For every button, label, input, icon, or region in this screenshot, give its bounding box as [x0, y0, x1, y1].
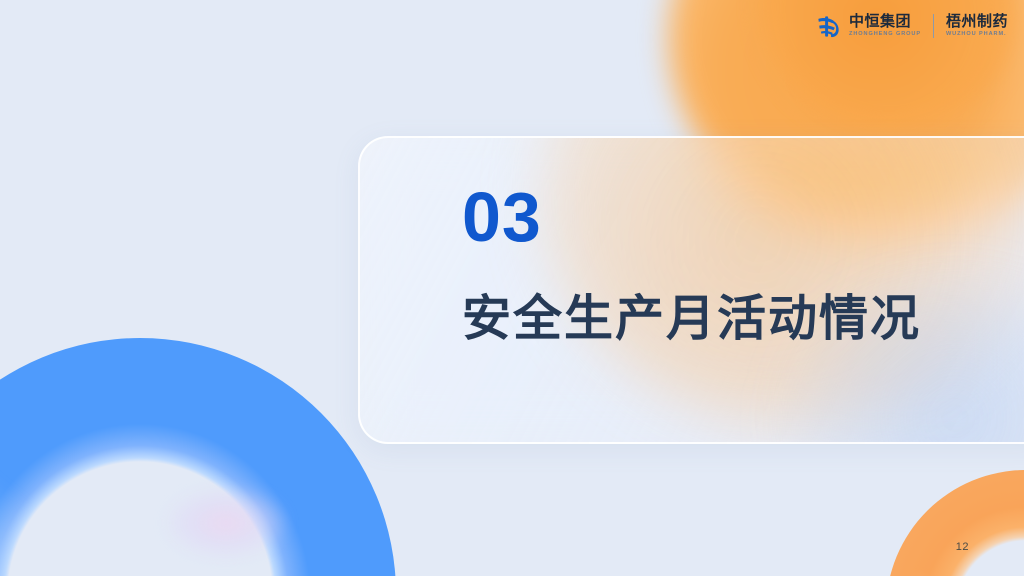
logo-right-cn: 梧州制药 — [946, 14, 1008, 30]
page-number: 12 — [956, 541, 969, 553]
logo-right-en: WUZHOU PHARM. — [946, 30, 1008, 38]
logo-left-text: 中恒集团 ZHONGHENG GROUP — [849, 14, 921, 38]
logo-divider — [933, 14, 934, 38]
card-content: 03 安全生产月活动情况 — [360, 138, 1024, 347]
section-number: 03 — [462, 182, 1024, 252]
logo-left-cn: 中恒集团 — [849, 14, 921, 30]
orange-ring-body — [886, 470, 1024, 576]
orange-ring-highlight — [900, 484, 1024, 576]
blue-ring-sparkle — [166, 488, 286, 558]
company-logo: 中恒集团 ZHONGHENG GROUP 梧州制药 WUZHOU PHARM. — [815, 11, 1008, 41]
orange-ring-decoration — [886, 470, 1024, 576]
logo-right-text: 梧州制药 WUZHOU PHARM. — [946, 14, 1008, 38]
blue-ring-highlight — [0, 360, 374, 576]
zhongheng-logo-mark-icon — [815, 13, 842, 40]
presentation-slide: 03 安全生产月活动情况 中恒集团 ZHONGHENG GROUP 梧州制药 W… — [0, 0, 1024, 576]
page-title: 安全生产月活动情况 — [462, 292, 1024, 347]
section-divider-card: 03 安全生产月活动情况 — [358, 136, 1024, 444]
logo-left-en: ZHONGHENG GROUP — [849, 30, 921, 38]
blue-ring-decoration — [0, 338, 396, 576]
blue-ring-body — [0, 338, 396, 576]
